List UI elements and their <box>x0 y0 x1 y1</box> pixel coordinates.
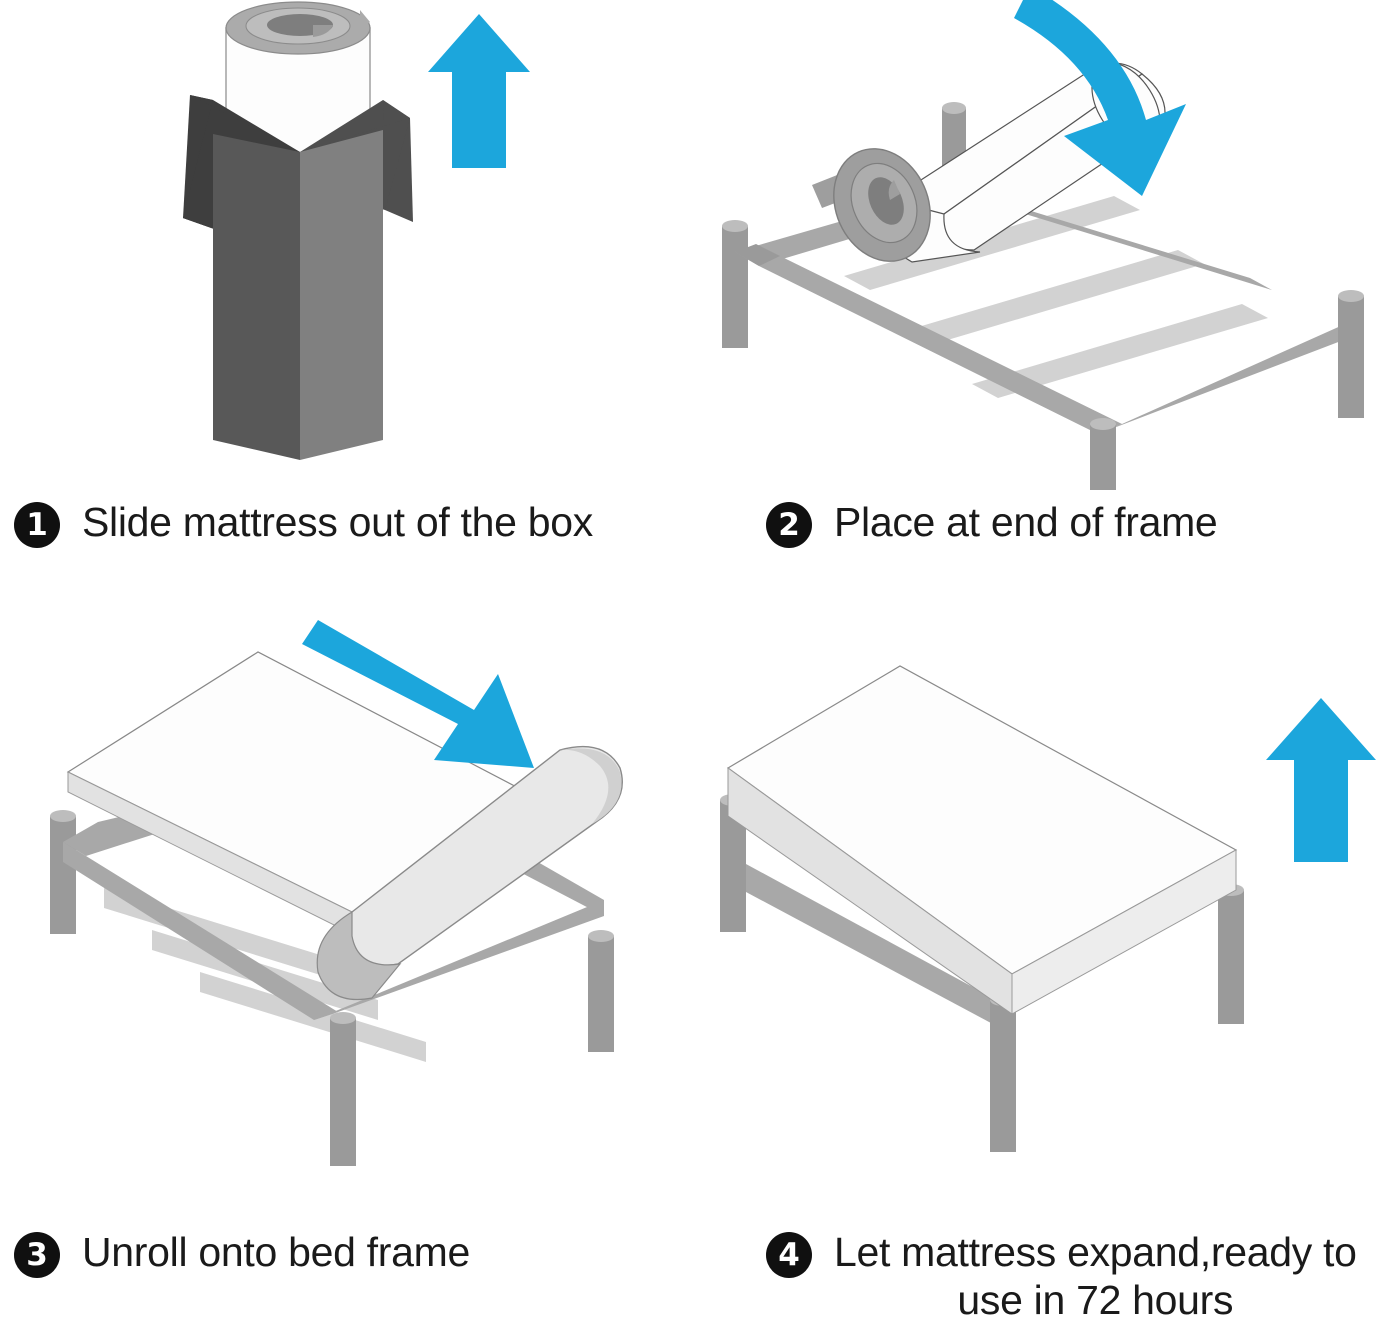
step-2-illustration <box>694 0 1389 490</box>
expanded-mattress <box>728 666 1236 1014</box>
frame-post-front <box>330 1012 356 1166</box>
step-number-badge: 3 <box>14 1232 60 1278</box>
step-4-illustration <box>694 600 1389 1220</box>
roll-spiral-end <box>226 2 370 54</box>
step-number-badge: 1 <box>14 502 60 548</box>
up-arrow <box>428 14 530 168</box>
step-number-badge: 2 <box>766 502 812 548</box>
step-4-caption: 4 Let mattress expand,ready to use in 72… <box>694 1228 1389 1325</box>
step-label: Slide mattress out of the box <box>82 498 593 546</box>
step-panel-4: 4 Let mattress expand,ready to use in 72… <box>694 600 1389 1326</box>
frame-post-right <box>1218 884 1244 1024</box>
frame-post-right <box>1338 290 1364 418</box>
step-1-illustration <box>0 0 694 490</box>
step-label: Let mattress expand,ready to use in 72 h… <box>834 1228 1357 1325</box>
instruction-sheet: 1 Slide mattress out of the box <box>0 0 1389 1326</box>
frame-post-left <box>50 810 76 934</box>
step-2-caption: 2 Place at end of frame <box>694 498 1389 548</box>
frame-post-right <box>588 930 614 1052</box>
step-1-caption: 1 Slide mattress out of the box <box>0 498 694 548</box>
step-label: Place at end of frame <box>834 498 1217 546</box>
up-arrow <box>1266 698 1376 862</box>
step-label: Unroll onto bed frame <box>82 1228 470 1276</box>
step-3-illustration <box>0 600 694 1220</box>
frame-post-left <box>722 220 748 348</box>
step-number-badge: 4 <box>766 1232 812 1278</box>
step-3-caption: 3 Unroll onto bed frame <box>0 1228 694 1278</box>
shipping-box <box>213 130 383 460</box>
frame-post-front <box>990 994 1016 1152</box>
step-panel-3: 3 Unroll onto bed frame <box>0 600 694 1326</box>
step-panel-1: 1 Slide mattress out of the box <box>0 0 694 600</box>
step-panel-2: 2 Place at end of frame <box>694 0 1389 600</box>
frame-post-front <box>1090 418 1116 490</box>
